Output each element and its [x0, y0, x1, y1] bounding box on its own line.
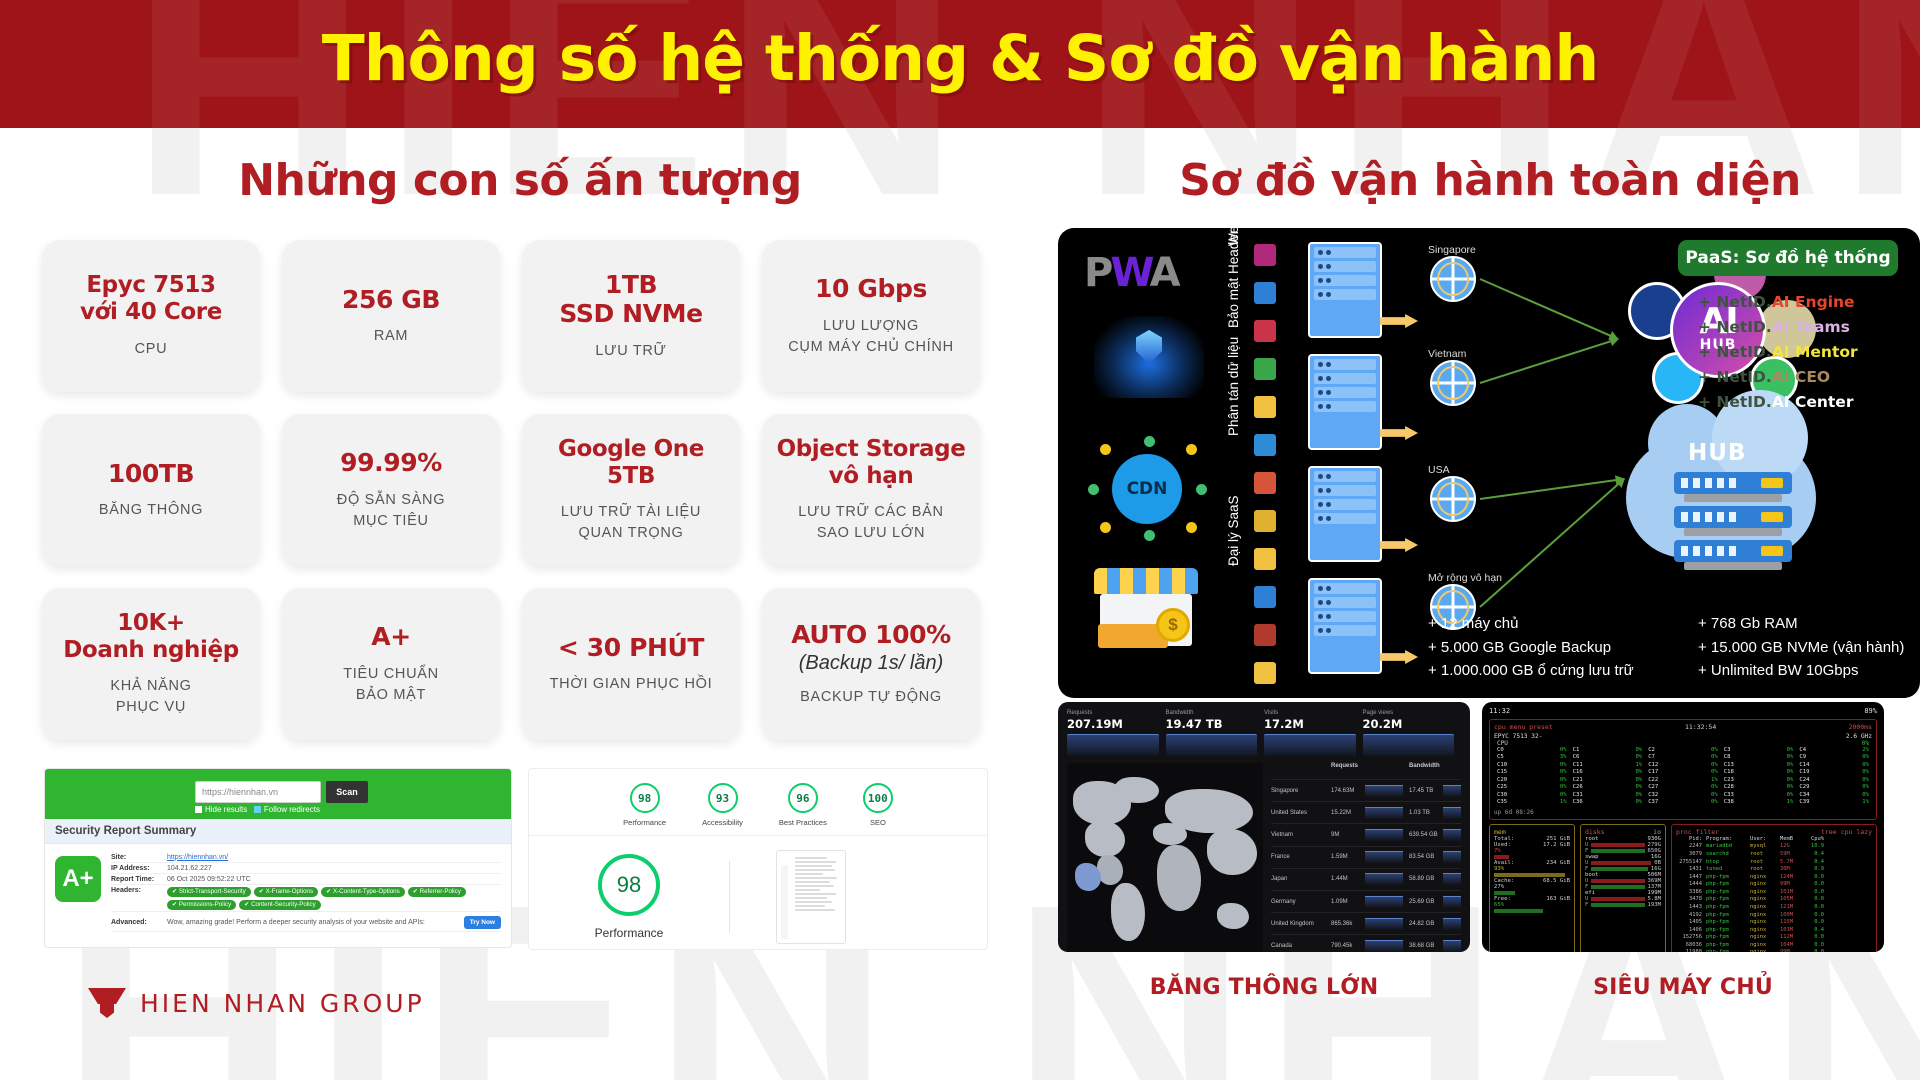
process-user: root [1750, 866, 1776, 874]
col-requests: Requests [1331, 763, 1365, 775]
stat-card-label: CPU [135, 339, 168, 360]
col-pid: Pid: [1676, 836, 1702, 844]
cpu-core-entry: C00% [1494, 747, 1570, 754]
report-field-value[interactable]: https://hiennhan.vn/ [167, 854, 228, 861]
stat-card-label: LƯU TRỮ TÀI LIỆUQUAN TRỌNG [561, 502, 701, 544]
core-usage: 0% [1635, 747, 1642, 754]
process-name: php-fpm [1706, 874, 1746, 882]
process-cpu: 0.0 [1806, 874, 1824, 882]
process-pid: 2755147 [1676, 859, 1702, 867]
disk-bar [1591, 897, 1644, 901]
cdn-node-dot [1088, 484, 1099, 495]
rack-slot [1314, 485, 1376, 496]
col-cpu: Cpu% [1806, 836, 1824, 844]
cpu-core-entry: C330% [1721, 792, 1797, 799]
rack-slot [1314, 583, 1376, 594]
cpu-total-label: CPU [1497, 740, 1508, 747]
stat-card-value: Epyc 7513với 40 Core [80, 272, 222, 326]
process-row: 1406php-fpmnginx103M0.4 [1676, 927, 1872, 935]
disk-entry: efi199MU5.8MF193M [1585, 890, 1661, 908]
core-usage: 0% [1787, 747, 1794, 754]
security-report-screenshot: https://hiennhan.vn Scan Hide results Fo… [44, 768, 512, 948]
cpu-core-entry: C111% [1570, 762, 1646, 769]
core-id: C32 [1648, 792, 1658, 799]
core-usage: 0% [1560, 777, 1567, 784]
bandwidth-sparkline [1443, 896, 1461, 908]
advanced-description: Wow, amazing grade! Perform a deeper sec… [167, 919, 425, 926]
netid-product-name: AI CEO [1772, 368, 1830, 386]
process-cpu: 0.9 [1806, 866, 1824, 874]
bandwidth-sparkline [1443, 807, 1461, 819]
server-terminal-screenshot: 11:32 89% cpu menu preset 11:32:54 2000m… [1482, 702, 1884, 952]
bandwidth-sparkline [1443, 829, 1461, 841]
flow-connector-arrow [1480, 338, 1619, 384]
core-usage: 0% [1711, 784, 1718, 791]
core-usage: 0% [1560, 784, 1567, 791]
netid-prefix: + NetID. [1698, 393, 1772, 411]
netid-product-name: AI Center [1772, 393, 1854, 411]
table-row: Canada790.45k38.68 GB [1271, 934, 1461, 952]
process-memory: 12G [1780, 843, 1802, 851]
core-usage: 0% [1862, 777, 1869, 784]
core-usage: 0% [1787, 754, 1794, 761]
mem-cache-value: 68.5 GiB [1543, 878, 1570, 884]
process-row: 68036php-fpmnginx104M0.0 [1676, 942, 1872, 950]
security-header-badge: ✔ Referrer-Policy [408, 887, 466, 897]
process-row: 3478php-fpmnginx105M0.0 [1676, 896, 1872, 904]
requests-sparkline [1365, 807, 1403, 819]
country-name: United Kingdom [1271, 921, 1331, 927]
cpu-core-entry: C60% [1570, 754, 1646, 761]
proc-lazy-title[interactable]: cpu lazy [1841, 828, 1872, 836]
spec-line: + 768 Gb RAM [1698, 612, 1904, 635]
cpu-core-entry: C270% [1645, 784, 1721, 791]
process-cpu: 0.0 [1806, 889, 1824, 897]
disk-metric-value: 193M [1648, 902, 1661, 908]
netid-prefix: + NetID. [1698, 343, 1772, 361]
cpu-core-entry: C240% [1796, 777, 1872, 784]
rack-slot [1314, 275, 1376, 286]
left-section-title: Những con số ấn tượng [40, 155, 1000, 206]
stats-card-grid: Epyc 7513với 40 CoreCPU256 GBRAM1TBSSD N… [42, 240, 1012, 740]
core-usage: 1% [1560, 799, 1567, 806]
rack-slot [1314, 597, 1376, 608]
cpu-core-entry: C10% [1570, 747, 1646, 754]
process-row: 2247mariadbdmysql12G10.9 [1676, 843, 1872, 851]
process-name: php-fpm [1706, 896, 1746, 904]
follow-redirects-checkbox[interactable] [254, 806, 261, 813]
core-id: C37 [1648, 799, 1658, 806]
requests-value: 174.63M [1331, 788, 1365, 794]
security-detail-rows: Site:https://hiennhan.vn/IP Address:104.… [111, 852, 501, 932]
netid-prefix: + NetID. [1698, 368, 1772, 386]
flow-arrow-icon [1380, 650, 1418, 664]
security-header-badge: ✔ Strict-Transport-Security [167, 887, 251, 897]
core-id: C14 [1799, 762, 1809, 769]
stat-card: Epyc 7513với 40 CoreCPU [42, 240, 260, 392]
core-id: C16 [1573, 769, 1583, 776]
memory-panel: mem Total:251 GiB Used:17.2 GiB 7% Avail… [1489, 824, 1575, 952]
kpi-value: 20.2M [1363, 717, 1462, 731]
proc-filter-title[interactable]: filter [1696, 828, 1719, 836]
core-usage: 1% [1862, 799, 1869, 806]
stat-card: Object Storagevô hạnLƯU TRỮ CÁC BẢNSAO L… [762, 414, 980, 566]
table-row: United Kingdom865.36k24.82 GB [1271, 912, 1461, 934]
cpu-core-entry: C190% [1796, 769, 1872, 776]
client-device-icon [1254, 586, 1276, 608]
dashboard-body: Requests Bandwidth Singapore174.63M17.45… [1067, 763, 1461, 952]
cpu-core-entry: C20% [1645, 747, 1721, 754]
cpu-core-entry: C221% [1645, 777, 1721, 784]
client-device-icon [1254, 434, 1276, 456]
core-usage: 0% [1635, 754, 1642, 761]
core-usage: 0% [1787, 777, 1794, 784]
right-section-title: Sơ đồ vận hành toàn diện [1050, 155, 1920, 206]
stat-card-label: BACKUP TỰ ĐỘNG [800, 687, 942, 708]
requests-sparkline [1365, 785, 1403, 797]
requests-sparkline [1365, 896, 1403, 908]
saas-store-icon: $ [1094, 568, 1198, 654]
core-id: C0 [1497, 747, 1504, 754]
process-pid: 3079 [1676, 851, 1702, 859]
flow-arrow-icon [1380, 426, 1418, 440]
url-input[interactable]: https://hiennhan.vn [195, 781, 321, 803]
mem-cache-label: Cache: [1494, 878, 1514, 884]
cpu-panel-menu[interactable]: cpu menu preset [1494, 723, 1553, 731]
lighthouse-score-item: 100SEO [863, 783, 893, 827]
process-cpu: 0.4 [1806, 851, 1824, 859]
core-id: C15 [1497, 769, 1507, 776]
requests-sparkline [1365, 851, 1403, 863]
col-mem: MemB [1780, 836, 1802, 844]
core-usage: 0% [1862, 792, 1869, 799]
cloud-server-unit [1674, 472, 1792, 494]
cpu-core-entry: C230% [1721, 777, 1797, 784]
stat-card: 256 GBRAM [282, 240, 500, 392]
caption-bandwidth: BĂNG THÔNG LỚN [1058, 975, 1470, 1000]
kpi-card: Visits17.2M [1264, 710, 1363, 756]
process-memory: 103M [1780, 927, 1802, 935]
stat-card: Google One5TBLƯU TRỮ TÀI LIỆUQUAN TRỌNG [522, 414, 740, 566]
cpu-core-entry: C30% [1721, 747, 1797, 754]
mem-used-label: Used: [1494, 842, 1511, 848]
core-id: C27 [1648, 784, 1658, 791]
hide-results-checkbox[interactable] [195, 806, 202, 813]
requests-value: 790.45k [1331, 943, 1365, 949]
process-user: nginx [1750, 919, 1776, 927]
cpu-core-entry: C280% [1721, 784, 1797, 791]
process-user: nginx [1750, 942, 1776, 950]
disk-bar [1591, 861, 1651, 865]
report-field-label: Report Time: [111, 876, 161, 883]
stat-card-value: Object Storagevô hạn [777, 436, 966, 490]
lighthouse-score-item: 93Accessibility [702, 783, 743, 827]
cdn-node-dot [1100, 444, 1111, 455]
score-label: Best Practices [779, 818, 827, 827]
core-id: C20 [1497, 777, 1507, 784]
cpu-core-grid: C00%C10%C20%C30%C42%C53%C60%C70%C80%C90%… [1494, 747, 1872, 807]
cpu-model: EPYC 7513 32- [1494, 733, 1542, 740]
scan-options: Hide results Follow redirects [195, 805, 320, 814]
core-id: C8 [1724, 754, 1731, 761]
process-row: 1431tunedroot30M0.9 [1676, 866, 1872, 874]
process-name: php-fpm [1706, 942, 1746, 950]
core-usage: 0% [1560, 792, 1567, 799]
process-pid: 1447 [1676, 874, 1702, 882]
process-user: nginx [1750, 904, 1776, 912]
core-id: C1 [1573, 747, 1580, 754]
security-headers-row: Headers:✔ Strict-Transport-Security✔ X-F… [111, 885, 501, 912]
core-usage: 0% [1862, 769, 1869, 776]
stat-card: AUTO 100%(Backup 1s/ lần)BACKUP TỰ ĐỘNG [762, 588, 980, 740]
cpu-core-entry: C70% [1645, 754, 1721, 761]
page-preview-thumbnail [776, 850, 846, 944]
operations-diagram-panel: PWA WebApp Bảo mật Header Phân tán dữ li… [1058, 228, 1920, 698]
process-user: nginx [1750, 874, 1776, 882]
mem-used-pct: 7% [1494, 848, 1570, 854]
country-name: Canada [1271, 943, 1331, 949]
process-name: tuned [1706, 866, 1746, 874]
stat-card: 1TBSSD NVMeLƯU TRỮ [522, 240, 740, 392]
cpu-core-entry: C80% [1721, 754, 1797, 761]
cpu-core-entry: C351% [1494, 799, 1570, 806]
core-usage: 0% [1862, 754, 1869, 761]
process-cpu: 0.0 [1806, 912, 1824, 920]
country-traffic-table: Requests Bandwidth Singapore174.63M17.45… [1271, 763, 1461, 952]
cloud-server-base [1684, 494, 1782, 502]
process-row: 152756php-fpmnginx112M0.0 [1676, 934, 1872, 942]
globe-label: USA [1428, 464, 1450, 476]
vertical-label-cdn: Phân tán dữ liệu [1226, 337, 1241, 436]
cdn-node-dot [1144, 530, 1155, 541]
mem-avail-pct: 93% [1494, 866, 1570, 872]
core-usage: 0% [1560, 762, 1567, 769]
process-row: 1405php-fpmnginx115M0.0 [1676, 919, 1872, 927]
terminal-battery: 89% [1864, 707, 1877, 715]
cpu-core-entry: C391% [1796, 799, 1872, 806]
kpi-card: Page views20.2M [1363, 710, 1462, 756]
cloud-server-base [1684, 562, 1782, 570]
process-cpu: 0.4 [1806, 927, 1824, 935]
cloud-hub-graphic: HUB [1626, 424, 1816, 584]
country-name: France [1271, 854, 1331, 860]
stat-card-label: ĐỘ SẴN SÀNGMỤC TIÊU [337, 490, 445, 532]
scan-toolbar: https://hiennhan.vn Scan Hide results Fo… [45, 769, 511, 819]
cdn-node-dot [1196, 484, 1207, 495]
process-panel: proc filter tree cpu lazy Pid: Program: … [1671, 824, 1877, 952]
process-memory: 104M [1780, 942, 1802, 950]
cpu-core-entry: C250% [1494, 784, 1570, 791]
report-field-label: IP Address: [111, 865, 161, 872]
report-field-value: 104.21.62.227 [167, 865, 212, 872]
cpu-core-entry: C300% [1494, 792, 1570, 799]
process-name: php-fpm [1706, 934, 1746, 942]
core-usage: 3% [1560, 754, 1567, 761]
requests-sparkline [1365, 940, 1403, 952]
country-name: Singapore [1271, 788, 1331, 794]
core-id: C38 [1724, 799, 1734, 806]
stat-card-note: (Backup 1s/ lần) [799, 651, 944, 675]
process-name: searchd [1706, 851, 1746, 859]
table-row: Japan1.44M58.89 GB [1271, 868, 1461, 890]
diagram-specs-right: + 768 Gb RAM+ 15.000 GB NVMe (vận hành)+… [1698, 612, 1904, 682]
process-name: php-fpm [1706, 889, 1746, 897]
kpi-label: Bandwidth [1166, 710, 1265, 716]
try-now-button[interactable]: Try Now [464, 916, 501, 929]
divider [729, 861, 730, 933]
rack-slot [1314, 261, 1376, 272]
stat-card-value: 10 Gbps [815, 274, 927, 304]
cpu-core-entry: C100% [1494, 762, 1570, 769]
core-id: C29 [1799, 784, 1809, 791]
terminal-lower-panels: mem Total:251 GiB Used:17.2 GiB 7% Avail… [1489, 824, 1877, 952]
process-pid: 2247 [1676, 843, 1702, 851]
disk-entry: root930GU279GF650G [1585, 836, 1661, 854]
process-memory: 30M [1780, 866, 1802, 874]
rack-slot [1314, 387, 1376, 398]
process-user: nginx [1750, 889, 1776, 897]
security-report-row: Report Time:06 Oct 2025 09:52:22 UTC [111, 874, 501, 885]
cpu-core-entry: C140% [1796, 762, 1872, 769]
process-pid: 3386 [1676, 889, 1702, 897]
disk-bar [1591, 903, 1644, 907]
process-user: root [1750, 859, 1776, 867]
core-usage: 0% [1787, 769, 1794, 776]
core-id: C2 [1648, 747, 1655, 754]
score-ring: 93 [708, 783, 738, 813]
security-shield-icon [1094, 316, 1204, 398]
core-id: C7 [1648, 754, 1655, 761]
terminal-status-bar: 11:32 89% [1489, 707, 1877, 715]
disk-metric-label: F [1585, 902, 1588, 908]
core-usage: 0% [1711, 762, 1718, 769]
kpi-value: 17.2M [1264, 717, 1363, 731]
col-user: User: [1750, 836, 1776, 844]
performance-score-label: Performance [529, 926, 729, 940]
lighthouse-score-item: 98Performance [623, 783, 666, 827]
score-label: Accessibility [702, 818, 743, 827]
disk-bar [1591, 885, 1644, 889]
kpi-sparkline [1264, 734, 1356, 756]
security-header-badge: ✔ X-Content-Type-Options [321, 887, 405, 897]
cdn-node-dot [1186, 444, 1197, 455]
hide-results-label: Hide results [205, 805, 247, 814]
security-report-row: IP Address:104.21.62.227 [111, 863, 501, 874]
core-id: C39 [1799, 799, 1809, 806]
proc-tree-title[interactable]: tree [1821, 828, 1837, 836]
bandwidth-value: 639.54 GB [1403, 832, 1443, 838]
world-map [1067, 763, 1263, 952]
spec-line: + 1.000.000 GB ổ cứng lưu trữ [1428, 659, 1634, 682]
cpu-core-entry: C170% [1645, 769, 1721, 776]
stat-card-label: THỜI GIAN PHỤC HỒI [550, 674, 713, 695]
core-id: C28 [1724, 784, 1734, 791]
process-pid: 1444 [1676, 881, 1702, 889]
scan-button[interactable]: Scan [326, 781, 368, 803]
rack-slot [1314, 625, 1376, 636]
core-usage: 0% [1560, 769, 1567, 776]
stat-card-value: A+ [371, 622, 411, 652]
process-name: php-fpm [1706, 881, 1746, 889]
process-cpu: 0.4 [1806, 859, 1824, 867]
rack-slot [1314, 289, 1376, 300]
core-usage: 0% [1635, 769, 1642, 776]
netid-feature-item: + NetID.AI CEO [1698, 365, 1858, 390]
globe-label: Singapore [1428, 244, 1476, 256]
table-row: France1.59M83.54 GB [1271, 846, 1461, 868]
cpu-core-entry: C320% [1645, 792, 1721, 799]
col-bandwidth: Bandwidth [1403, 763, 1443, 775]
core-usage: 0% [1560, 747, 1567, 754]
process-cpu: 0.0 [1806, 896, 1824, 904]
stat-card-value: < 30 PHÚT [558, 633, 704, 663]
security-header-badge: ✔ X-Frame-Options [254, 887, 318, 897]
stat-card-value: Google One5TB [558, 436, 704, 490]
disk-entry: boot506MU369MF137M [1585, 872, 1661, 890]
cpu-core-entry: C42% [1796, 747, 1872, 754]
disks-panel-title: disks [1585, 828, 1605, 836]
rack-slot [1314, 513, 1376, 524]
core-usage: 0% [1635, 792, 1642, 799]
flow-arrow-icon [1380, 314, 1418, 328]
cpu-total-value: 0% [1862, 740, 1869, 747]
disks-io-title: io [1653, 828, 1661, 836]
process-pid: 1431 [1676, 866, 1702, 874]
requests-value: 15.22M [1331, 810, 1365, 816]
netid-feature-item: + NetID.AI Teams [1698, 315, 1858, 340]
process-memory: 101M [1780, 889, 1802, 897]
cpu-core-entry: C120% [1645, 762, 1721, 769]
process-pid: 1405 [1676, 919, 1702, 927]
server-rack [1308, 242, 1382, 338]
coin-icon: $ [1156, 608, 1190, 642]
mem-used-value: 17.2 GiB [1543, 842, 1570, 848]
core-usage: 0% [1711, 799, 1718, 806]
process-cpu: 0.0 [1806, 904, 1824, 912]
core-id: C19 [1799, 769, 1809, 776]
country-name: United States [1271, 810, 1331, 816]
process-memory: 99M [1780, 949, 1802, 952]
disk-bar [1591, 879, 1644, 883]
process-pid: 4192 [1676, 912, 1702, 920]
process-row: 2755147btoproot5.7M0.4 [1676, 859, 1872, 867]
bandwidth-value: 25.69 GB [1403, 899, 1443, 905]
stat-card-value: 256 GB [342, 285, 440, 315]
disks-panel: disks io root930GU279GF650Gswap16GU0BF16… [1580, 824, 1666, 952]
terminal-clock: 11:32 [1489, 707, 1510, 715]
stat-card-label: LƯU TRỮ [595, 341, 666, 362]
stat-card-label: TIÊU CHUẨNBẢO MẬT [343, 664, 439, 706]
core-usage: 0% [1711, 769, 1718, 776]
security-header-badge: ✔ Content-Security-Policy [239, 900, 321, 910]
header-badge-group: ✔ Strict-Transport-Security✔ X-Frame-Opt… [167, 887, 501, 910]
process-memory: 115M [1780, 919, 1802, 927]
cpu-core-entry: C150% [1494, 769, 1570, 776]
vertical-label-saas: Đại lý SaaS [1226, 495, 1241, 566]
process-pid: 1406 [1676, 927, 1702, 935]
table-row: Singapore174.63M17.45 TB [1271, 779, 1461, 801]
kpi-sparkline [1166, 734, 1258, 756]
brand-mark-icon [88, 988, 126, 1018]
process-user: root [1750, 851, 1776, 859]
core-id: C17 [1648, 769, 1658, 776]
bandwidth-sparkline [1443, 873, 1461, 885]
report-field-label: Site: [111, 854, 161, 861]
cpu-core-entry: C370% [1645, 799, 1721, 806]
process-cpu: 0.0 [1806, 942, 1824, 950]
caption-server: SIÊU MÁY CHỦ [1482, 975, 1884, 1000]
rack-slot [1314, 471, 1376, 482]
